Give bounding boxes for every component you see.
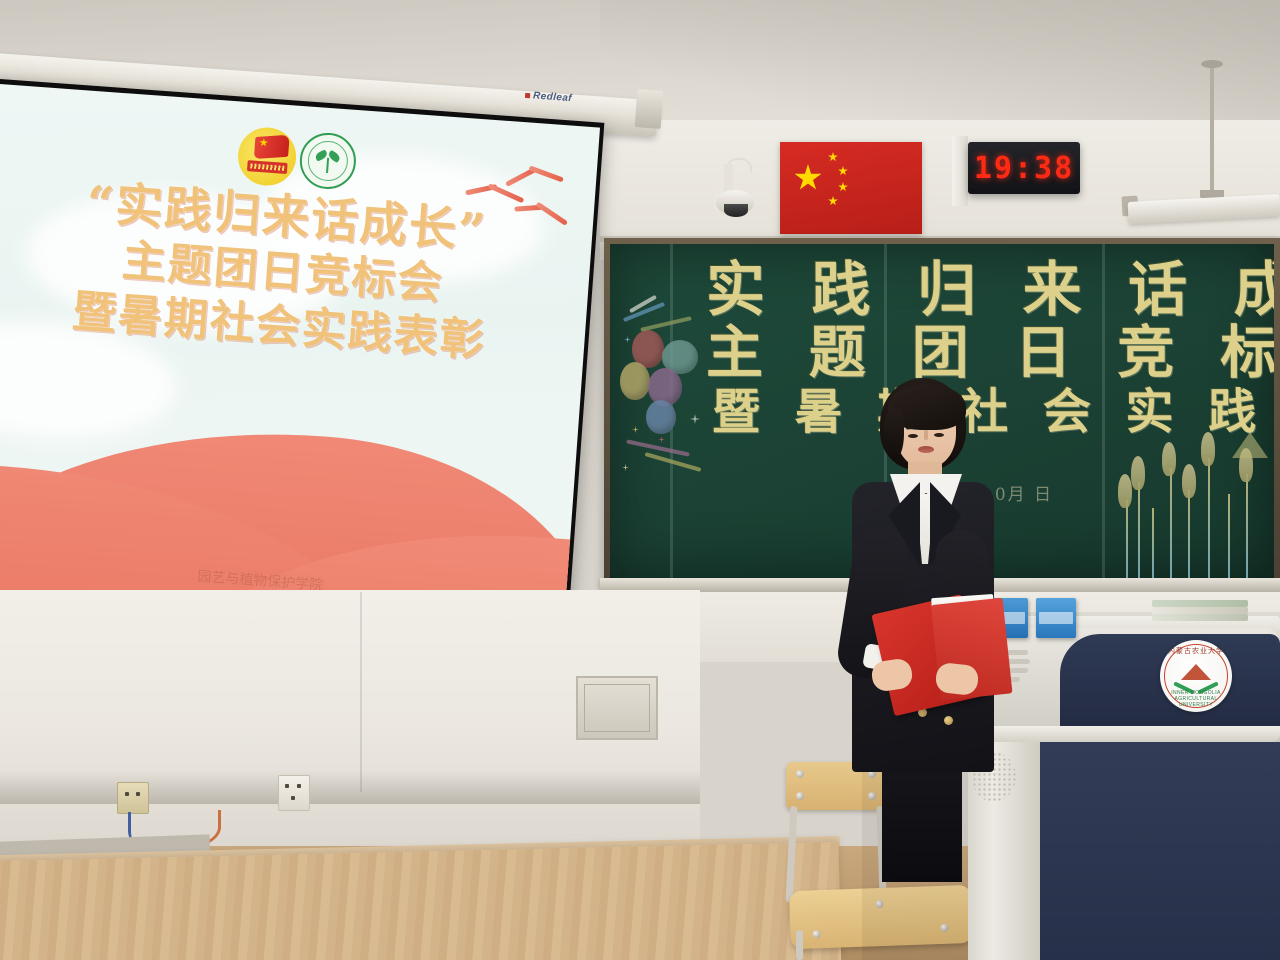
presenter-hand-right	[935, 662, 980, 696]
wall-access-panel[interactable]	[576, 676, 658, 740]
emblem-band	[247, 160, 288, 174]
chair-leg-front	[796, 930, 803, 960]
projection-screen[interactable]: “实践归来话成长” 主题团日竞标会 暨暑期社会实践表彰 园艺与植物保护学院 20…	[0, 78, 604, 661]
wall-seam	[360, 592, 362, 792]
chalk-wheat-decoration	[1104, 428, 1274, 578]
camera-lens-icon	[724, 204, 748, 217]
sprout-icon	[316, 149, 340, 175]
presenter-hair-side	[884, 408, 904, 460]
blackboard-line2: 主 题 团 日 竞 标 会	[706, 324, 1274, 382]
brand-dot-icon	[525, 93, 530, 98]
ceiling-light-pole	[1210, 64, 1214, 196]
chinese-national-flag	[780, 142, 922, 234]
stacked-books	[1152, 600, 1248, 622]
logo-roof-icon	[1181, 664, 1211, 680]
clock-bracket	[952, 136, 968, 206]
screen-housing-endcap	[635, 89, 664, 129]
wall-grime	[0, 770, 700, 804]
lectern-front-panel	[1040, 742, 1280, 960]
flag-shape	[254, 135, 290, 159]
presentation-slide: “实践归来话成长” 主题团日竞标会 暨暑期社会实践表彰 园艺与植物保护学院 20…	[0, 83, 600, 655]
blazer-button	[944, 716, 953, 725]
ceiling-light-cap	[1201, 60, 1223, 68]
wooden-desk[interactable]	[0, 842, 841, 960]
presenter-legs	[882, 764, 962, 882]
presenter-nose	[924, 430, 928, 440]
classroom-scene: Redleaf	[0, 0, 1280, 960]
college-sprout-emblem	[298, 131, 358, 191]
presenter	[838, 378, 1008, 878]
university-logo: 内蒙古农业大学 INNER MONGOLIA AGRICULTURAL UNIV…	[1160, 640, 1232, 712]
university-logo-name-en: INNER MONGOLIA AGRICULTURAL UNIVERSITY	[1160, 690, 1232, 708]
blackboard-line1: 实 践 归 来 话 成 长	[706, 260, 1274, 320]
university-logo-name-cn: 内蒙古农业大学	[1160, 646, 1232, 656]
digital-wall-clock: 19:38	[968, 142, 1080, 194]
power-outlet-white[interactable]	[278, 775, 310, 811]
gift-box-blue-2[interactable]	[1036, 598, 1076, 638]
presenter-mouth	[918, 446, 934, 453]
clock-time-display: 19:38	[968, 142, 1080, 194]
communist-youth-league-emblem	[236, 125, 298, 187]
